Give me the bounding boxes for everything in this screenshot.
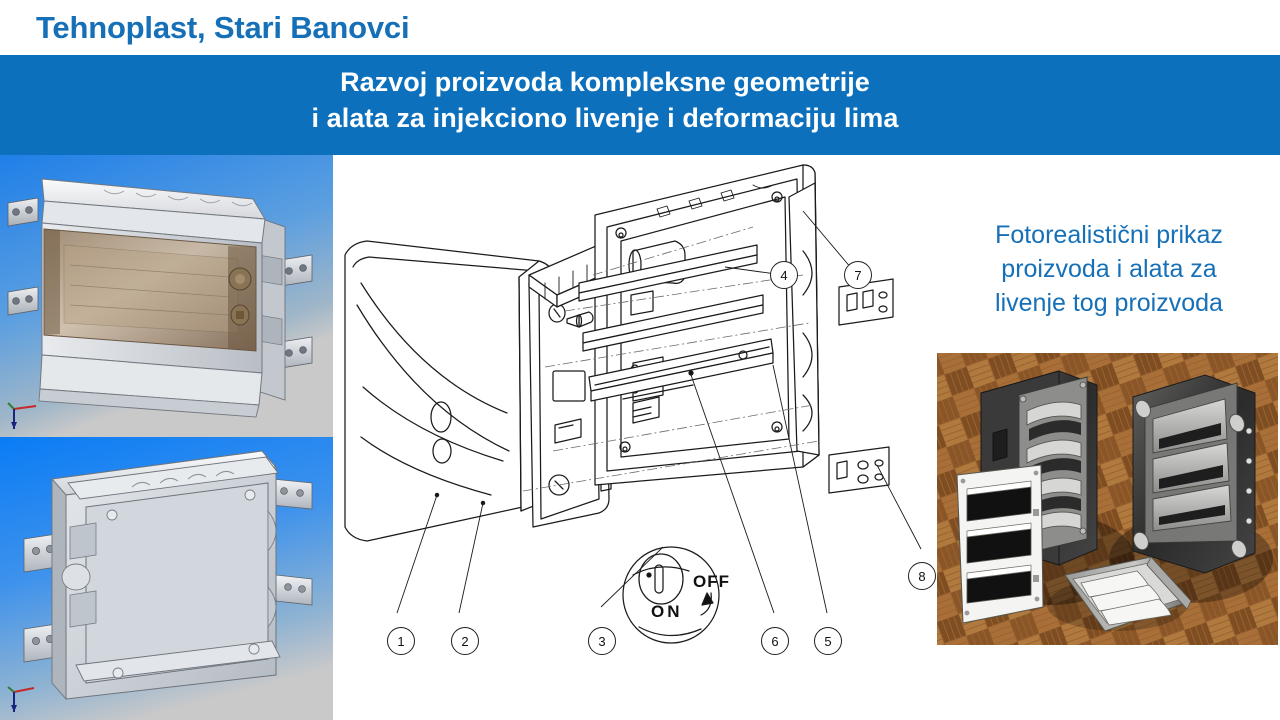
xyz-axis-triad: [6, 684, 40, 714]
callout-5: 5: [814, 627, 842, 655]
slide-title: Razvoj proizvoda kompleksne geometrije i…: [0, 64, 1245, 136]
rear-housing-render: [0, 437, 333, 720]
rear-housing-art: [0, 437, 333, 720]
callout-2: 2: [451, 627, 479, 655]
photo-caption: Fotorealistični prikaz proizvoda i alata…: [944, 218, 1274, 320]
mold-photo-art: [937, 353, 1278, 645]
front-assembly-art: [0, 155, 333, 437]
photo-caption-line1: Fotorealistični prikaz: [944, 218, 1274, 252]
callout-7: 7: [844, 261, 872, 289]
callout-1: 1: [387, 627, 415, 655]
switch-on-label: ON: [651, 602, 683, 622]
title-band: Razvoj proizvoda kompleksne geometrije i…: [0, 55, 1280, 155]
slide-title-line1: Razvoj proizvoda kompleksne geometrije: [0, 64, 1245, 100]
mold-photorealistic-render: [937, 353, 1278, 645]
callout-3: 3: [588, 627, 616, 655]
xyz-axis-triad: [6, 401, 40, 431]
exploded-assembly-drawing: 1 2 3 4 5 6 7 8 OFF ON: [333, 155, 937, 720]
slide-title-line2: i alata za injekciono livenje i deformac…: [0, 100, 1245, 136]
callout-6: 6: [761, 627, 789, 655]
company-title: Tehnoplast, Stari Banovci: [36, 10, 409, 46]
slide-root: Tehnoplast, Stari Banovci Razvoj proizvo…: [0, 0, 1280, 720]
callout-4: 4: [770, 261, 798, 289]
photo-caption-line2: proizvoda i alata za: [944, 252, 1274, 286]
photo-caption-line3: livenje tog proizvoda: [944, 286, 1274, 320]
exploded-drawing-art: [333, 155, 937, 720]
switch-off-label: OFF: [693, 572, 730, 592]
callout-8: 8: [908, 562, 936, 590]
front-assembly-render: [0, 155, 333, 437]
